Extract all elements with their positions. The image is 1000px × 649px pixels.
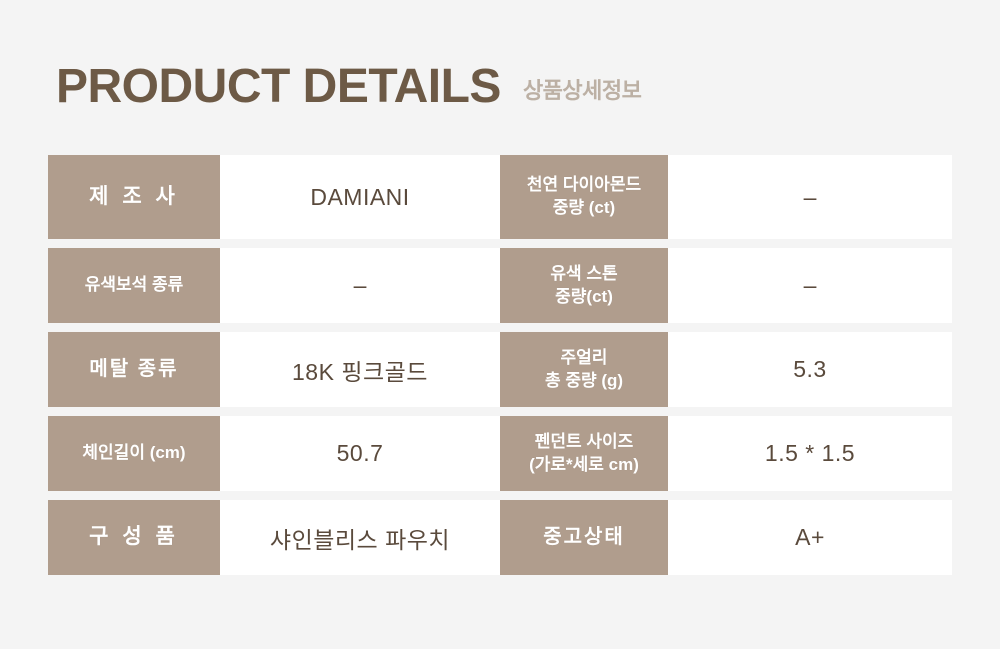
spec-label-gemstone-weight: 유색 스톤 중량(ct) bbox=[500, 239, 668, 323]
page-title-sub: 상품상세정보 bbox=[523, 80, 641, 102]
spec-value-gemstone-weight: – bbox=[668, 239, 952, 323]
spec-value-components: 샤인블리스 파우치 bbox=[220, 491, 500, 575]
spec-label-total-weight-line2: 총 중량 (g) bbox=[500, 370, 668, 393]
product-spec-table: 제 조 사 DAMIANI 천연 다이아몬드 중량 (ct) – 유색보석 종류… bbox=[48, 155, 952, 575]
spec-value-metal-type: 18K 핑크골드 bbox=[220, 323, 500, 407]
spec-value-total-weight: 5.3 bbox=[668, 323, 952, 407]
spec-label-pendant-size-line2: (가로*세로 cm) bbox=[500, 454, 668, 477]
spec-label-gemstone-weight-line1: 유색 스톤 bbox=[500, 263, 668, 286]
page-title-main: PRODUCT DETAILS bbox=[56, 63, 501, 111]
spec-label-chain-length: 체인길이 (cm) bbox=[48, 407, 220, 491]
spec-label-manufacturer: 제 조 사 bbox=[48, 155, 220, 239]
table-row: 메탈 종류 18K 핑크골드 주얼리 총 중량 (g) 5.3 bbox=[48, 323, 952, 407]
spec-label-condition: 중고상태 bbox=[500, 491, 668, 575]
spec-label-gemstone-weight-line2: 중량(ct) bbox=[500, 286, 668, 309]
spec-label-diamond-weight-line1: 천연 다이아몬드 bbox=[500, 174, 668, 197]
spec-value-chain-length: 50.7 bbox=[220, 407, 500, 491]
spec-label-total-weight-line1: 주얼리 bbox=[500, 347, 668, 370]
spec-label-diamond-weight-line2: 중량 (ct) bbox=[500, 197, 668, 220]
spec-label-components: 구 성 품 bbox=[48, 491, 220, 575]
table-row: 제 조 사 DAMIANI 천연 다이아몬드 중량 (ct) – bbox=[48, 155, 952, 239]
spec-label-diamond-weight: 천연 다이아몬드 중량 (ct) bbox=[500, 155, 668, 239]
spec-value-manufacturer: DAMIANI bbox=[220, 155, 500, 239]
spec-label-pendant-size-line1: 펜던트 사이즈 bbox=[500, 431, 668, 454]
page-title: PRODUCT DETAILS 상품상세정보 bbox=[56, 63, 641, 111]
spec-label-metal-type: 메탈 종류 bbox=[48, 323, 220, 407]
spec-value-gemstone-type: – bbox=[220, 239, 500, 323]
table-row: 체인길이 (cm) 50.7 펜던트 사이즈 (가로*세로 cm) 1.5 * … bbox=[48, 407, 952, 491]
spec-value-diamond-weight: – bbox=[668, 155, 952, 239]
product-details-page: PRODUCT DETAILS 상품상세정보 제 조 사 DAMIANI 천연 … bbox=[0, 0, 1000, 649]
spec-label-gemstone-type: 유색보석 종류 bbox=[48, 239, 220, 323]
spec-value-pendant-size: 1.5 * 1.5 bbox=[668, 407, 952, 491]
table-row: 구 성 품 샤인블리스 파우치 중고상태 A+ bbox=[48, 491, 952, 575]
table-row: 유색보석 종류 – 유색 스톤 중량(ct) – bbox=[48, 239, 952, 323]
spec-value-condition: A+ bbox=[668, 491, 952, 575]
spec-label-total-weight: 주얼리 총 중량 (g) bbox=[500, 323, 668, 407]
spec-label-pendant-size: 펜던트 사이즈 (가로*세로 cm) bbox=[500, 407, 668, 491]
